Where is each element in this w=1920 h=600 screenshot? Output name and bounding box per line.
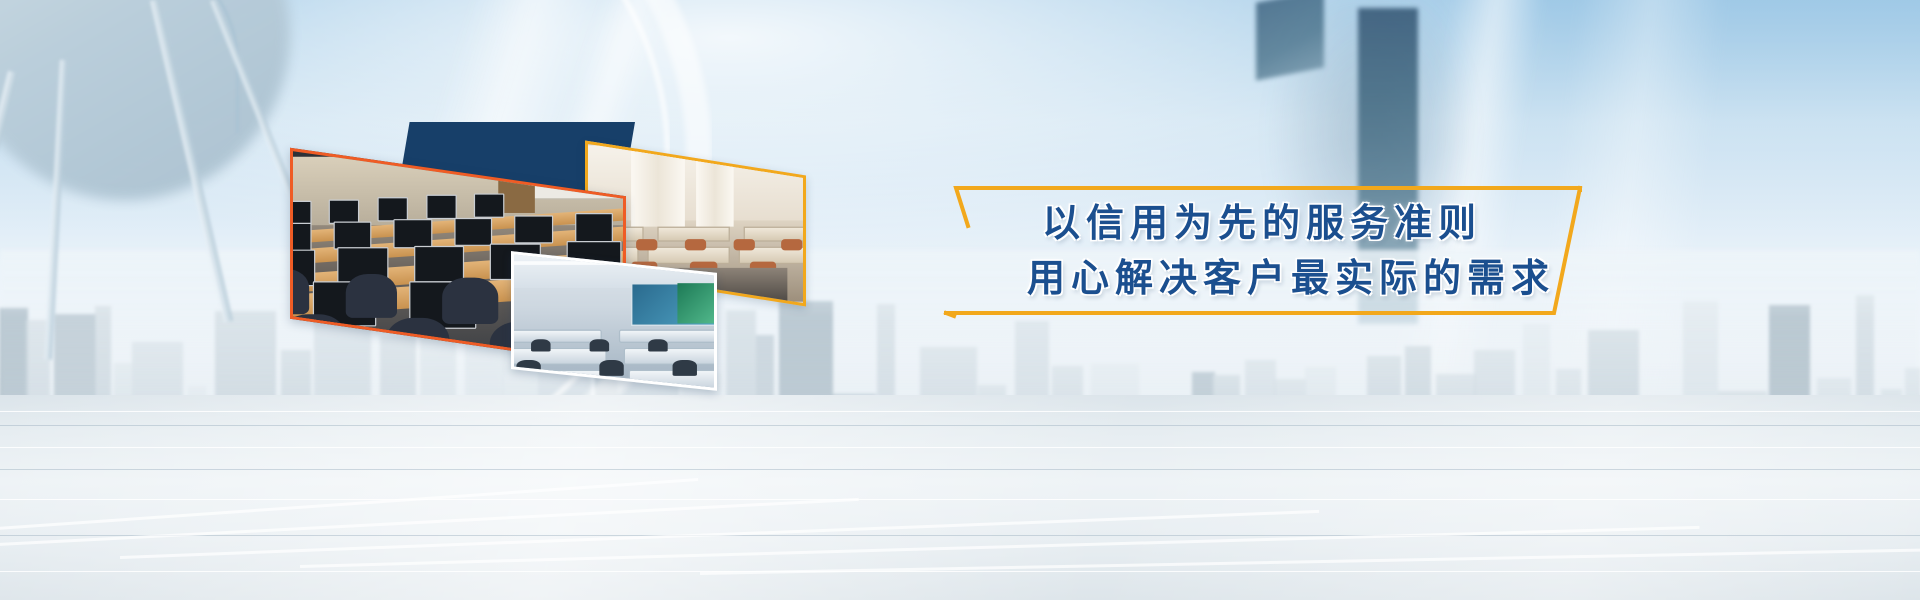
slogan-text: 以信用为先的服务准则 用心解决客户最实际的需求: [940, 196, 1590, 306]
slogan-block: 以信用为先的服务准则 用心解决客户最实际的需求: [940, 168, 1590, 333]
slogan-line-2: 用心解决客户最实际的需求: [992, 251, 1590, 306]
hero-banner: 以信用为先的服务准则 用心解决客户最实际的需求: [0, 0, 1920, 600]
numeral-one-flag: [1256, 0, 1324, 81]
foreground-plane: [0, 395, 1920, 600]
photo-control-center[interactable]: [511, 251, 717, 391]
slogan-line-1: 以信用为先的服务准则: [934, 196, 1590, 251]
photo-collage: [285, 110, 865, 400]
